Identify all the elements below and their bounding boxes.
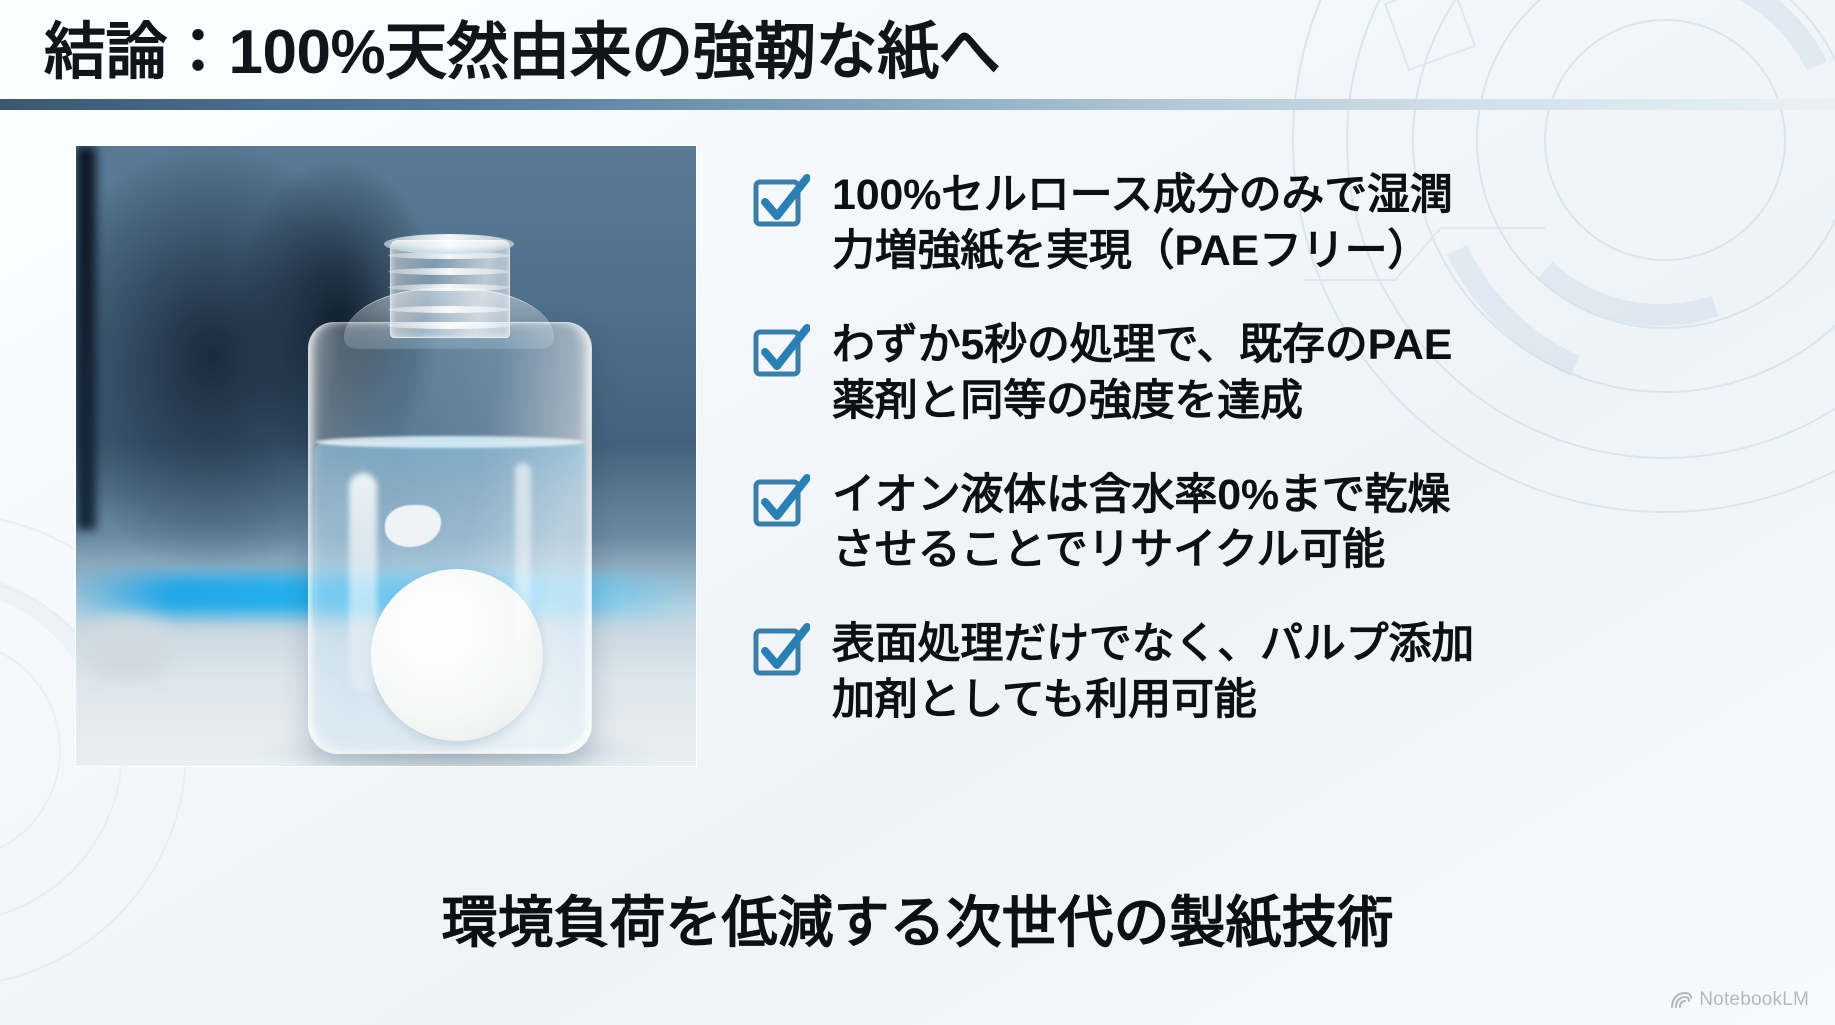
bullet-list: 100%セルロース成分のみで湿潤 力増強紙を実現（PAEフリー） わずか5秒の処… [752, 168, 1752, 729]
hero-photo [76, 146, 696, 766]
slide-caption: 環境負荷を低減する次世代の製紙技術 [0, 878, 1835, 959]
slide-canvas: 結論：100%天然由来の強靭な紙へ [0, 0, 1835, 1025]
notebooklm-spiral-icon [1670, 990, 1692, 1010]
list-item-text: わずか5秒の処理で、既存のPAE 薬剤と同等の強度を達成 [832, 318, 1452, 430]
title-area: 結論：100%天然由来の強靭な紙へ [0, 0, 1835, 118]
vial-thread [388, 322, 510, 329]
list-item-text: 表面処理だけでなく、パルプ添加 加剤としても利用可能 [832, 617, 1474, 729]
list-item-text: 100%セルロース成分のみで湿潤 力増強紙を実現（PAEフリー） [832, 168, 1453, 280]
title-underline-rule [0, 99, 1835, 110]
vial-liquid-surface [315, 436, 585, 448]
lab-background-dark-edge [76, 146, 96, 530]
vial-thread [388, 306, 510, 313]
list-item-line: させることでリサイクル可能 [832, 523, 1450, 579]
checkbox-checked-icon [752, 324, 810, 382]
glass-vial-icon [308, 224, 590, 754]
list-item-line: 力増強紙を実現（PAEフリー） [832, 224, 1453, 280]
list-item-line: 表面処理だけでなく、パルプ添加 [832, 617, 1474, 673]
checkbox-checked-icon [752, 623, 810, 681]
vial-thread [388, 284, 510, 291]
list-item-line: イオン液体は含水率0%まで乾燥 [832, 468, 1450, 524]
list-item-line: 加剤としても利用可能 [832, 673, 1474, 729]
checkbox-checked-icon [752, 174, 810, 232]
vial-thread [388, 268, 510, 275]
list-item: イオン液体は含水率0%まで乾燥 させることでリサイクル可能 [752, 468, 1752, 580]
list-item-line: 薬剤と同等の強度を達成 [832, 374, 1452, 430]
vial-highlight-left [349, 473, 377, 693]
list-item: 100%セルロース成分のみで湿潤 力増強紙を実現（PAEフリー） [752, 168, 1752, 280]
list-item: 表面処理だけでなく、パルプ添加 加剤としても利用可能 [752, 617, 1752, 729]
vial-highlight-right [515, 463, 531, 713]
list-item-line: 100%セルロース成分のみで湿潤 [832, 168, 1453, 224]
lab-background-blob [82, 617, 174, 679]
watermark-label: NotebookLM [1699, 989, 1809, 1011]
list-item-line: わずか5秒の処理で、既存のPAE [832, 318, 1452, 374]
page-title: 結論：100%天然由来の強靭な紙へ [44, 14, 1000, 92]
notebooklm-watermark: NotebookLM [1670, 989, 1809, 1011]
list-item: わずか5秒の処理で、既存のPAE 薬剤と同等の強度を達成 [752, 318, 1752, 430]
list-item-text: イオン液体は含水率0%まで乾燥 させることでリサイクル可能 [832, 468, 1450, 580]
vial-body [308, 322, 592, 754]
checkbox-checked-icon [752, 474, 810, 532]
vial-rim [384, 234, 514, 254]
